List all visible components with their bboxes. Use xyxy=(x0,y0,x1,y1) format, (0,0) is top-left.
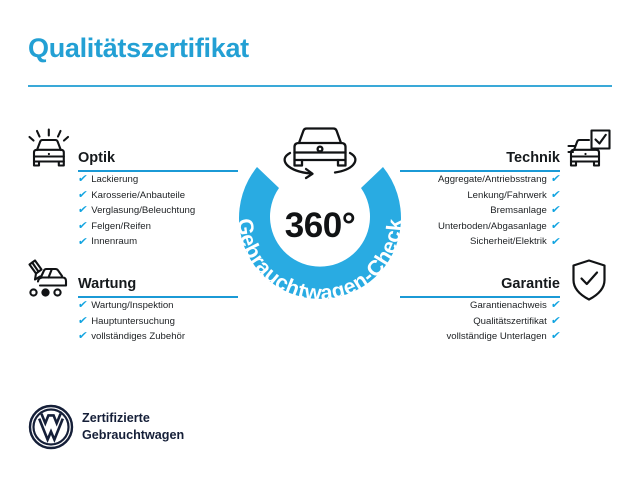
list-item: ✔Hauptuntersuchung xyxy=(78,314,238,330)
list-item: Garantienachweis✔ xyxy=(400,298,560,314)
section-optik-list: ✔Lackierung✔Karosserie/Anbauteile✔Vergla… xyxy=(78,172,238,250)
check-icon: ✔ xyxy=(550,221,561,232)
section-optik-divider xyxy=(78,170,238,172)
section-technik-title: Technik xyxy=(506,150,560,166)
section-garantie-list: Garantienachweis✔Qualitätszertifikat✔vol… xyxy=(400,298,560,345)
section-optik-header: Optik xyxy=(78,142,238,172)
section-wartung-list: ✔Wartung/Inspektion✔Hauptuntersuchung✔vo… xyxy=(78,298,238,345)
page-title: Qualitätszertifikat xyxy=(28,33,249,64)
car-service-pen-icon xyxy=(24,258,70,300)
list-item: ✔Lackierung xyxy=(78,172,238,188)
vw-logo-icon xyxy=(28,404,74,450)
check-icon: ✔ xyxy=(77,174,88,185)
check-icon: ✔ xyxy=(77,316,88,327)
list-item-label: Innenraum xyxy=(91,234,137,250)
section-technik-list: Aggregate/Antriebsstrang✔Lenkung/Fahrwer… xyxy=(400,172,560,250)
section-optik-title: Optik xyxy=(78,150,115,166)
section-garantie-title: Garantie xyxy=(501,276,560,292)
section-garantie-divider xyxy=(400,296,560,298)
check-icon: ✔ xyxy=(550,331,561,342)
check-icon: ✔ xyxy=(77,221,88,232)
section-garantie: Garantie Garantienachweis✔Qualitätszerti… xyxy=(400,268,560,345)
list-item-label: Wartung/Inspektion xyxy=(91,298,173,314)
list-item: ✔Wartung/Inspektion xyxy=(78,298,238,314)
list-item: Qualitätszertifikat✔ xyxy=(400,314,560,330)
list-item: ✔Karosserie/Anbauteile xyxy=(78,188,238,204)
list-item-label: Lenkung/Fahrwerk xyxy=(467,188,546,204)
badge-center-label: 360° xyxy=(222,206,418,246)
check-icon: ✔ xyxy=(550,205,561,216)
section-garantie-header: Garantie xyxy=(400,268,560,298)
check-icon: ✔ xyxy=(550,190,561,201)
check-icon: ✔ xyxy=(77,300,88,311)
check-icon: ✔ xyxy=(550,174,561,185)
list-item-label: Verglasung/Beleuchtung xyxy=(91,203,195,219)
list-item: ✔Felgen/Reifen xyxy=(78,219,238,235)
list-item: Sicherheit/Elektrik✔ xyxy=(400,234,560,250)
check-icon: ✔ xyxy=(77,190,88,201)
check-icon: ✔ xyxy=(77,331,88,342)
list-item-label: Bremsanlage xyxy=(490,203,547,219)
section-optik: Optik ✔Lackierung✔Karosserie/Anbauteile✔… xyxy=(78,142,238,250)
list-item: vollständige Unterlagen✔ xyxy=(400,329,560,345)
check-icon: ✔ xyxy=(77,237,88,248)
list-item: ✔vollständiges Zubehör xyxy=(78,329,238,345)
car-shine-icon xyxy=(26,128,72,170)
footer-line-1: Zertifizierte xyxy=(82,410,184,427)
list-item: Aggregate/Antriebsstrang✔ xyxy=(400,172,560,188)
list-item: Lenkung/Fahrwerk✔ xyxy=(400,188,560,204)
list-item-label: Karosserie/Anbauteile xyxy=(91,188,185,204)
section-wartung: Wartung ✔Wartung/Inspektion✔Hauptuntersu… xyxy=(78,268,238,345)
section-wartung-divider xyxy=(78,296,238,298)
section-wartung-header: Wartung xyxy=(78,268,238,298)
footer-line-2: Gebrauchtwagen xyxy=(82,427,184,444)
list-item: Unterboden/Abgasanlage✔ xyxy=(400,219,560,235)
check-icon: ✔ xyxy=(550,316,561,327)
list-item-label: Sicherheit/Elektrik xyxy=(470,234,547,250)
list-item: Bremsanlage✔ xyxy=(400,203,560,219)
list-item-label: Lackierung xyxy=(91,172,138,188)
list-item-label: Felgen/Reifen xyxy=(91,219,151,235)
check-icon: ✔ xyxy=(550,237,561,248)
list-item-label: vollständiges Zubehör xyxy=(91,329,185,345)
section-technik: Technik Aggregate/Antriebsstrang✔Lenkung… xyxy=(400,142,560,250)
list-item-label: vollständige Unterlagen xyxy=(447,329,547,345)
list-item: ✔Verglasung/Beleuchtung xyxy=(78,203,238,219)
list-item-label: Qualitätszertifikat xyxy=(473,314,547,330)
section-technik-divider xyxy=(400,170,560,172)
section-wartung-title: Wartung xyxy=(78,276,136,292)
check-icon: ✔ xyxy=(550,300,561,311)
shield-check-icon xyxy=(570,258,608,302)
list-item-label: Hauptuntersuchung xyxy=(91,314,175,330)
list-item-label: Unterboden/Abgasanlage xyxy=(438,219,547,235)
list-item: ✔Innenraum xyxy=(78,234,238,250)
list-item-label: Aggregate/Antriebsstrang xyxy=(438,172,547,188)
footer-brand-text: Zertifizierte Gebrauchtwagen xyxy=(82,410,184,444)
car-lift-checkbox-icon xyxy=(566,128,612,170)
title-divider xyxy=(28,85,612,87)
check-icon: ✔ xyxy=(77,205,88,216)
section-technik-header: Technik xyxy=(400,142,560,172)
car-rotation-icon xyxy=(276,122,364,182)
list-item-label: Garantienachweis xyxy=(470,298,547,314)
